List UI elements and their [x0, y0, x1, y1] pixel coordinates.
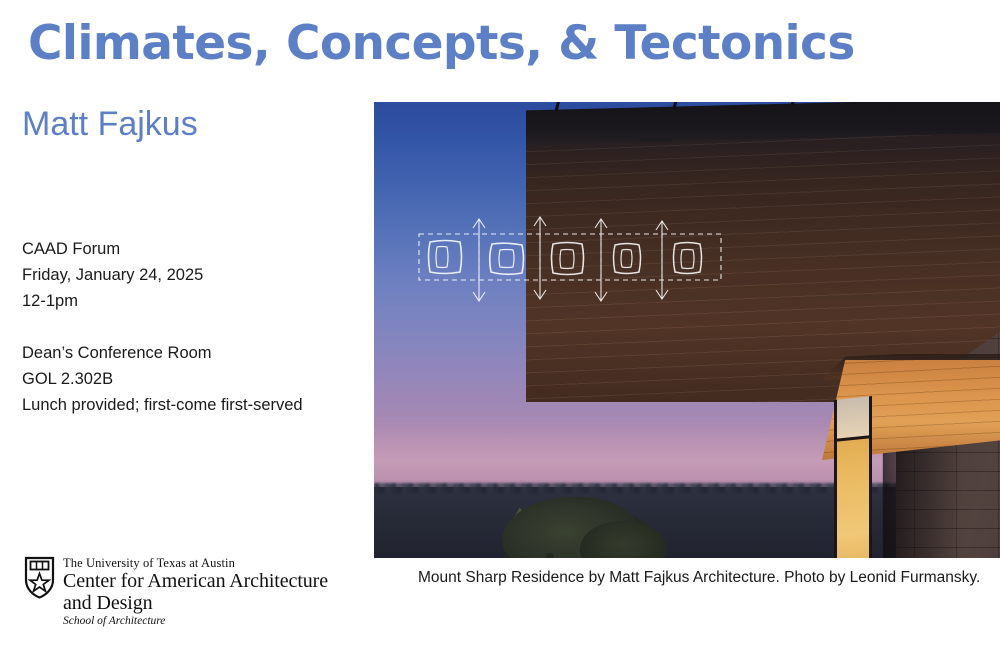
glass-door	[834, 396, 872, 558]
page-title: Climates, Concepts, & Tectonics	[28, 16, 855, 71]
event-venue: Dean’s Conference Room	[22, 340, 303, 366]
door-transom	[837, 396, 869, 441]
roof-clips	[534, 102, 1000, 118]
event-details: CAAD Forum Friday, January 24, 2025 12-1…	[22, 236, 303, 418]
event-time: 12-1pm	[22, 288, 303, 314]
ut-shield-icon	[24, 556, 55, 599]
institution-logo: The University of Texas at Austin Center…	[24, 556, 328, 628]
project-photograph	[374, 102, 1000, 558]
door-mullion-right	[869, 396, 872, 558]
logo-school: School of Architecture	[63, 614, 328, 628]
event-date: Friday, January 24, 2025	[22, 262, 303, 288]
foreground-tree	[484, 497, 674, 558]
logo-text-block: The University of Texas at Austin Center…	[63, 556, 328, 628]
photo-caption: Mount Sharp Residence by Matt Fajkus Arc…	[418, 569, 980, 587]
event-series: CAAD Forum	[22, 236, 303, 262]
logo-center-line2: and Design	[63, 592, 328, 614]
logo-center-line1: Center for American Architecture	[63, 570, 328, 592]
door-mullion-left	[834, 400, 837, 558]
architectural-diagram-overlay	[416, 206, 726, 311]
speaker-name: Matt Fajkus	[22, 105, 198, 144]
details-spacer	[22, 314, 303, 340]
logo-university: The University of Texas at Austin	[63, 556, 328, 570]
event-note: Lunch provided; first-come first-served	[22, 392, 303, 418]
event-room: GOL 2.302B	[22, 366, 303, 392]
event-poster: Climates, Concepts, & Tectonics Matt Faj…	[0, 0, 1000, 647]
